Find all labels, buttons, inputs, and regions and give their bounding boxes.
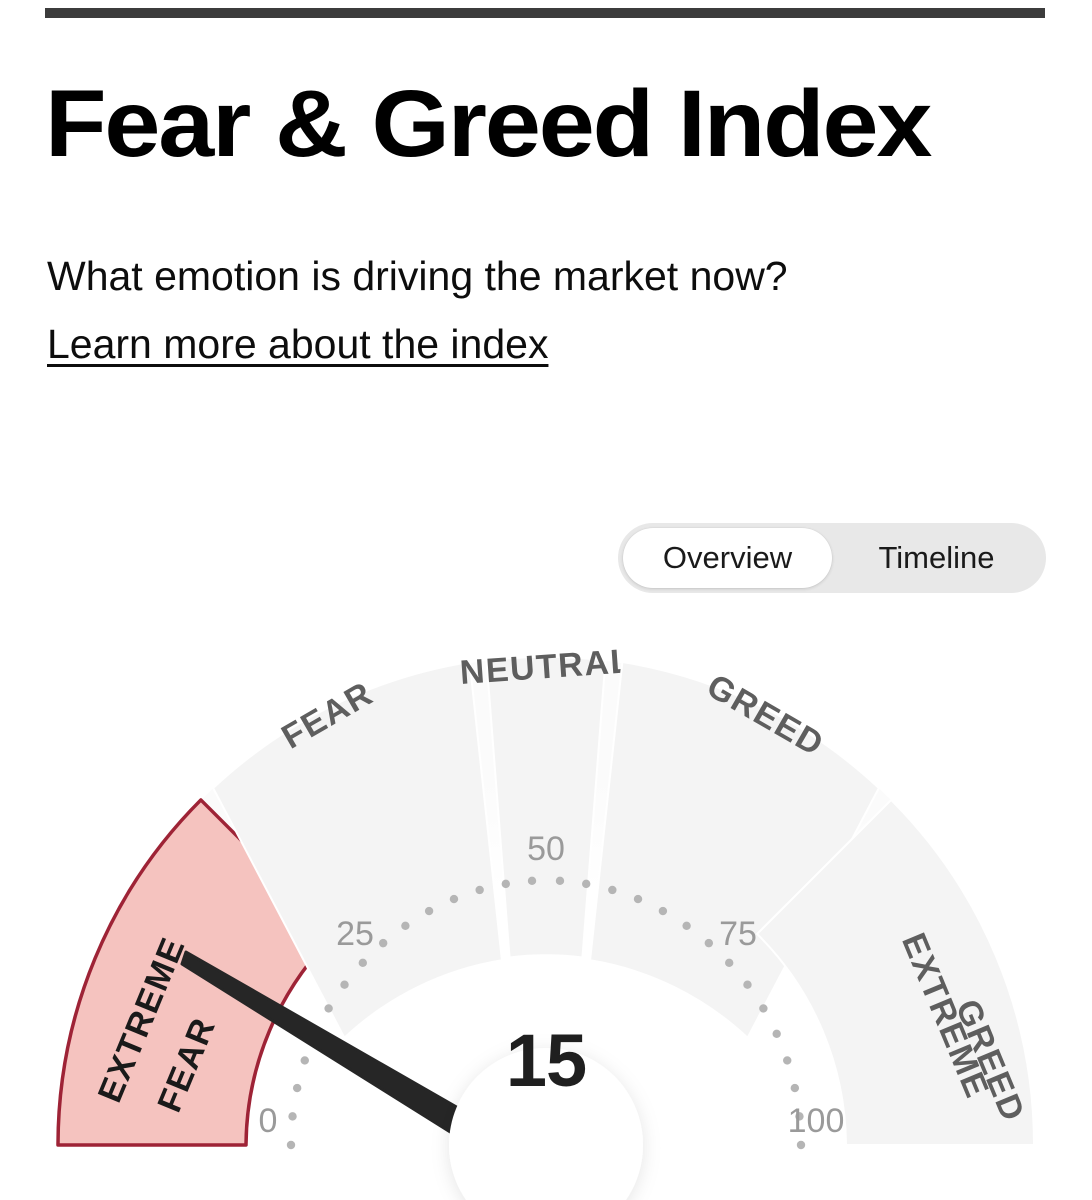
tab-overview[interactable]: Overview [623,528,832,588]
top-rule-divider [45,8,1045,18]
scale-label-0: 0 [259,1102,278,1140]
scale-label-100: 100 [788,1102,845,1140]
scale-label-25: 25 [336,915,374,953]
view-toggle[interactable]: Overview Timeline [618,523,1046,593]
fear-greed-gauge: EXTREME FEAR FEAR NEUTRAL GREED EXTR [0,600,1092,1200]
gauge-svg: EXTREME FEAR FEAR NEUTRAL GREED EXTR [0,600,1092,1200]
scale-label-50: 50 [527,830,565,868]
learn-more-link[interactable]: Learn more about the index [47,320,548,368]
gauge-value-text: 15 [506,1019,586,1102]
scale-label-75: 75 [719,915,757,953]
tab-timeline[interactable]: Timeline [832,528,1041,588]
fear-greed-index-page: Fear & Greed Index What emotion is drivi… [0,0,1092,1200]
page-title: Fear & Greed Index [45,74,1092,174]
page-subtitle: What emotion is driving the market now? [47,252,788,300]
